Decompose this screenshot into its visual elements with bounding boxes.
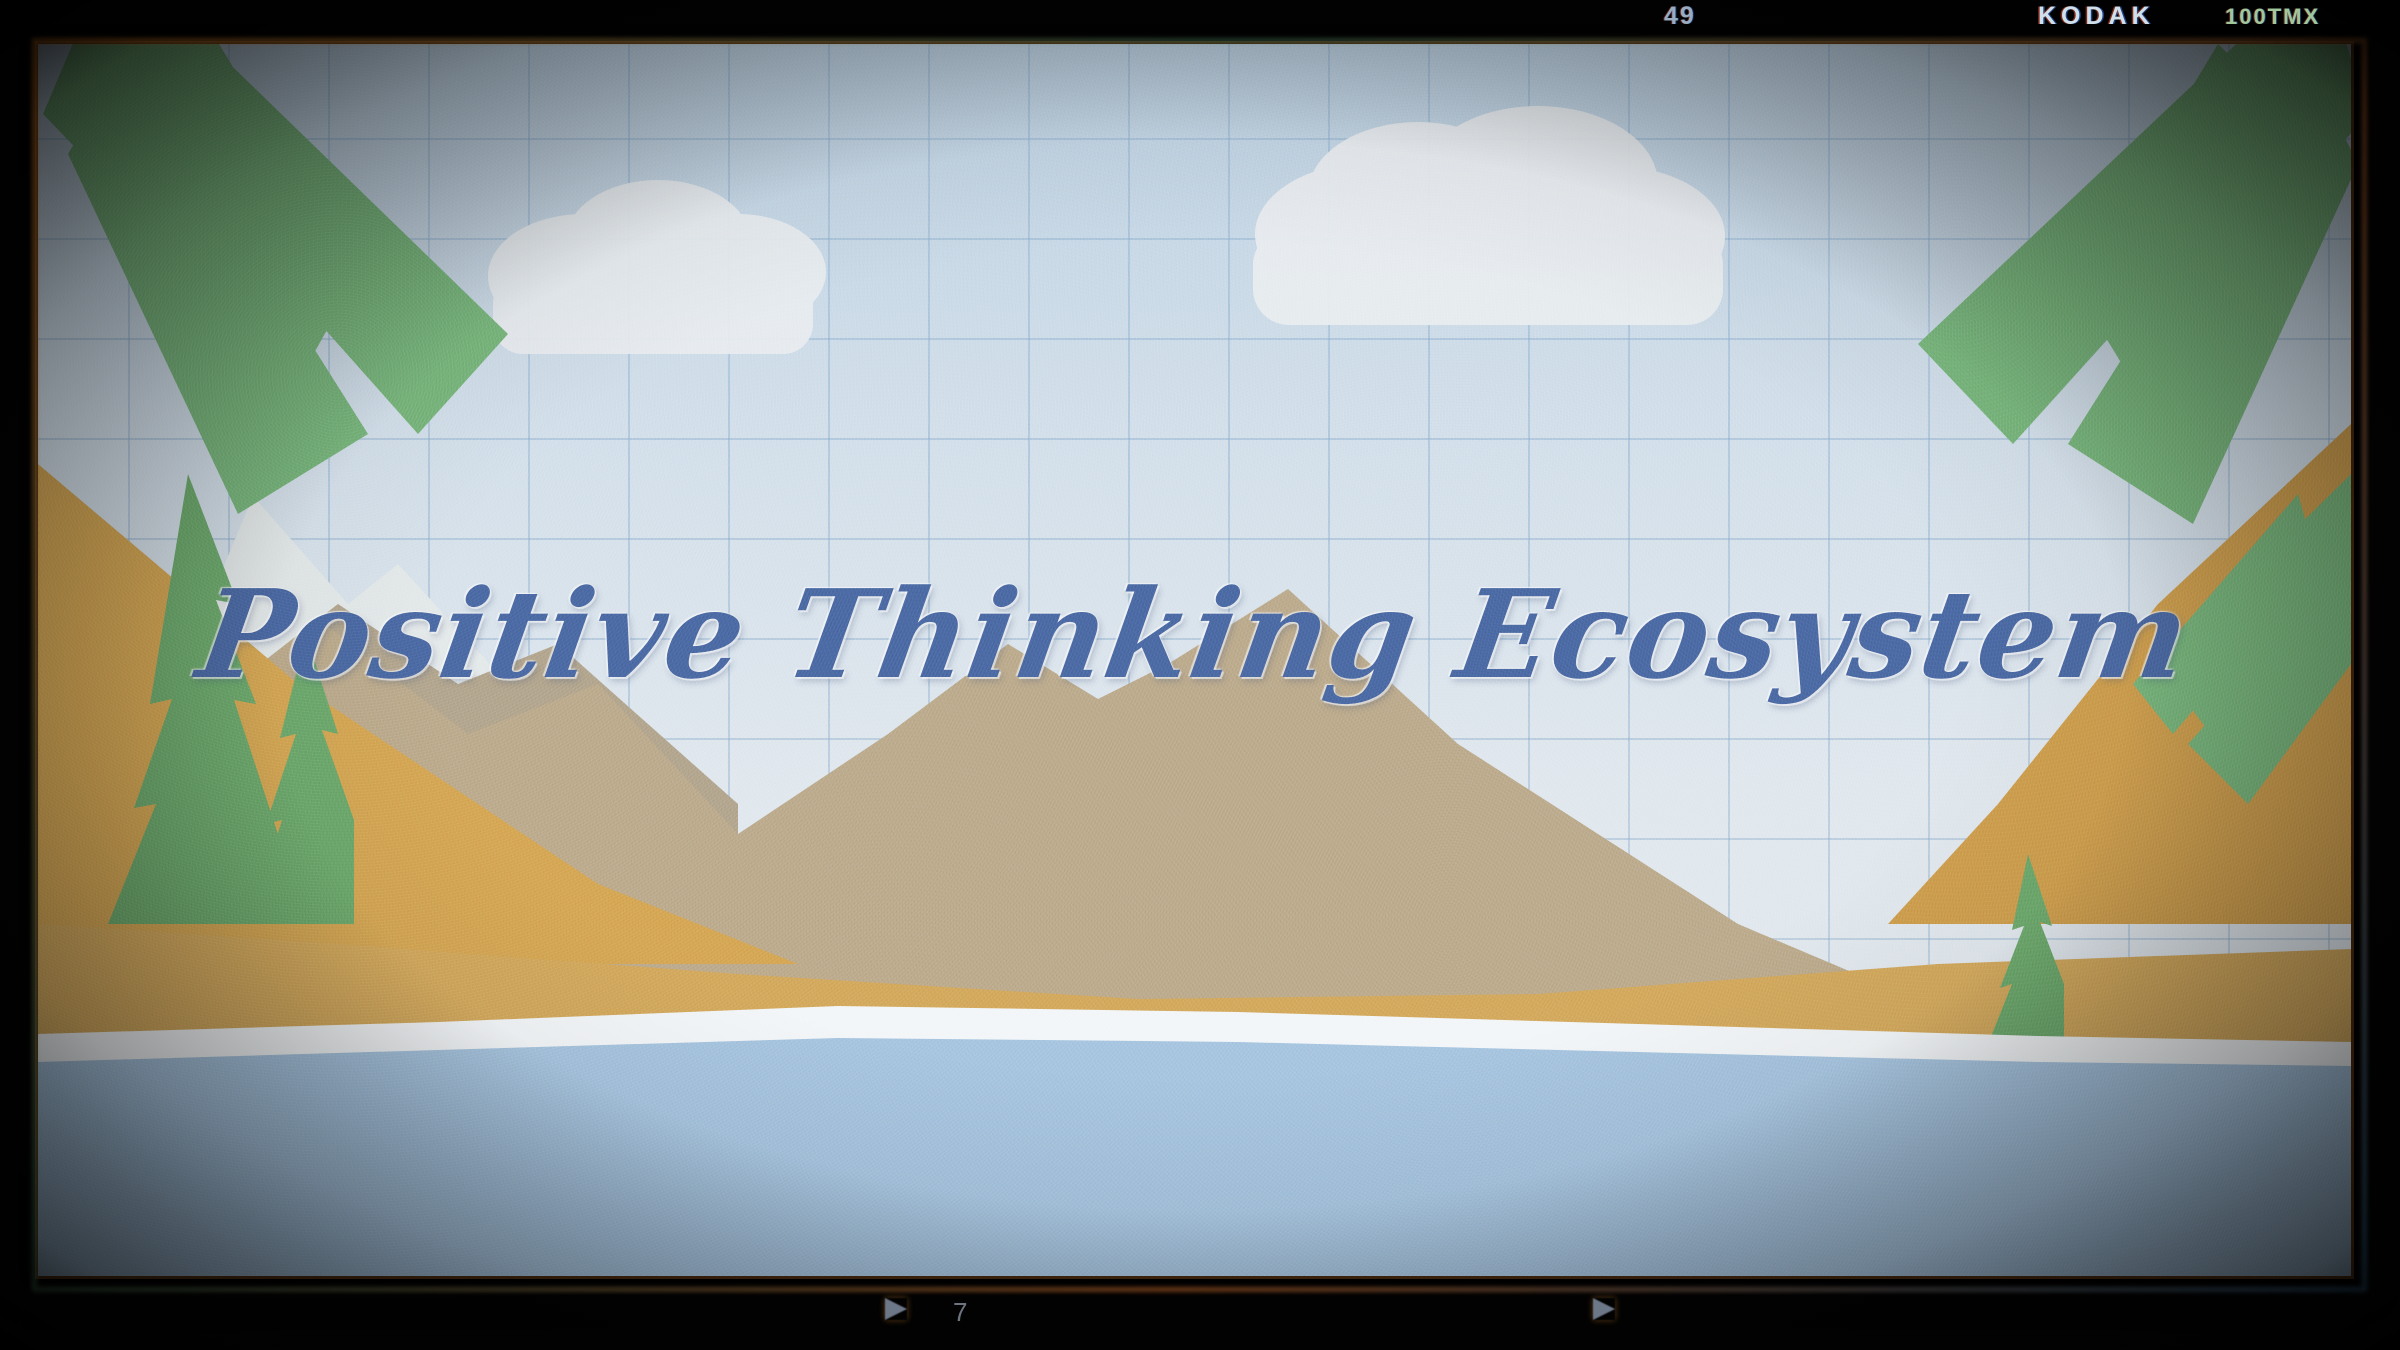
film-frame-number-top: 49 xyxy=(1664,2,1696,31)
film-brand-label: KODAK xyxy=(2038,2,2155,31)
water-layer xyxy=(38,44,2351,1276)
film-scan-stage: Positive Thinking Ecosystem 49 KODAK 100… xyxy=(0,0,2400,1350)
lake-water xyxy=(38,1038,2351,1276)
play-triangle-icon-right xyxy=(1593,1298,1615,1320)
film-stock-label: 100TMX xyxy=(2225,4,2320,30)
photo-frame: Positive Thinking Ecosystem xyxy=(38,44,2351,1276)
film-frame-number-bottom: 7 xyxy=(953,1297,968,1328)
play-triangle-icon-left xyxy=(885,1298,907,1320)
